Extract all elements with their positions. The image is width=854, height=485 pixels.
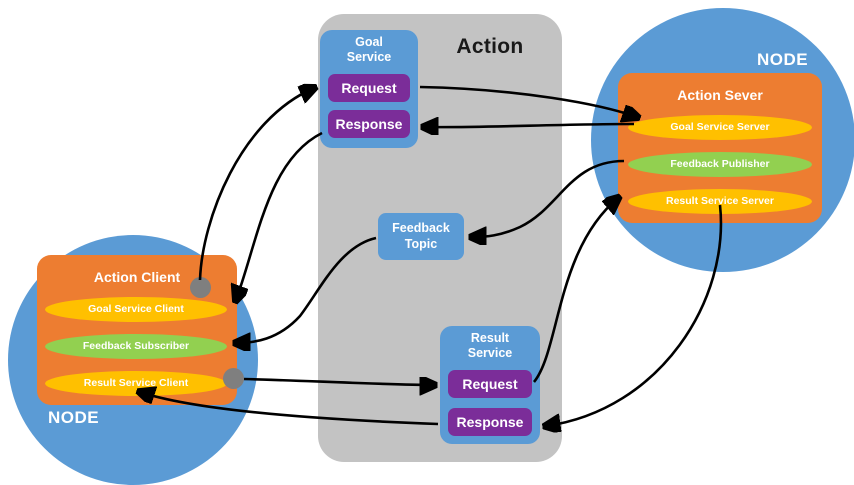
result-service-title-line2: Service — [468, 346, 512, 360]
feedback-topic-line1: Feedback — [392, 221, 450, 235]
action-panel-title: Action — [430, 35, 550, 59]
goal-service-client-pill[interactable]: Goal Service Client — [45, 297, 227, 322]
result-client-connector-dot — [223, 368, 244, 389]
feedback-topic-label: Feedback Topic — [392, 221, 450, 252]
result-service-title: Result Service — [440, 331, 540, 362]
arrow-goal-response-to-goal-client — [236, 133, 322, 300]
goal-service-response-button[interactable]: Response — [328, 110, 410, 138]
result-service-box: Result Service Request Response — [440, 326, 540, 444]
goal-service-title: Goal Service — [320, 35, 418, 66]
goal-service-box: Goal Service Request Response — [320, 30, 418, 148]
action-server-box: Action Sever Goal Service Server Feedbac… — [618, 73, 822, 223]
goal-client-connector-dot — [190, 277, 211, 298]
diagram-canvas: Action NODE Action Sever Goal Service Se… — [0, 0, 854, 480]
arrow-goal-client-to-goal-request — [200, 88, 314, 280]
action-client-box: Action Client Goal Service Client Feedba… — [37, 255, 237, 405]
goal-service-title-line2: Service — [347, 50, 391, 64]
result-service-title-line1: Result — [471, 331, 509, 345]
server-node-label: NODE — [757, 50, 808, 70]
result-service-server-pill[interactable]: Result Service Server — [628, 189, 812, 214]
goal-service-request-button[interactable]: Request — [328, 74, 410, 102]
feedback-subscriber-pill[interactable]: Feedback Subscriber — [45, 334, 227, 359]
client-node-label: NODE — [48, 408, 99, 428]
goal-service-server-pill[interactable]: Goal Service Server — [628, 115, 812, 140]
feedback-publisher-pill[interactable]: Feedback Publisher — [628, 152, 812, 177]
result-service-request-button[interactable]: Request — [448, 370, 532, 398]
result-service-client-pill[interactable]: Result Service Client — [45, 371, 227, 396]
feedback-topic-line2: Topic — [405, 237, 437, 251]
feedback-topic-box[interactable]: Feedback Topic — [378, 213, 464, 260]
result-service-response-button[interactable]: Response — [448, 408, 532, 436]
action-server-title: Action Sever — [618, 87, 822, 103]
goal-service-title-line1: Goal — [355, 35, 383, 49]
